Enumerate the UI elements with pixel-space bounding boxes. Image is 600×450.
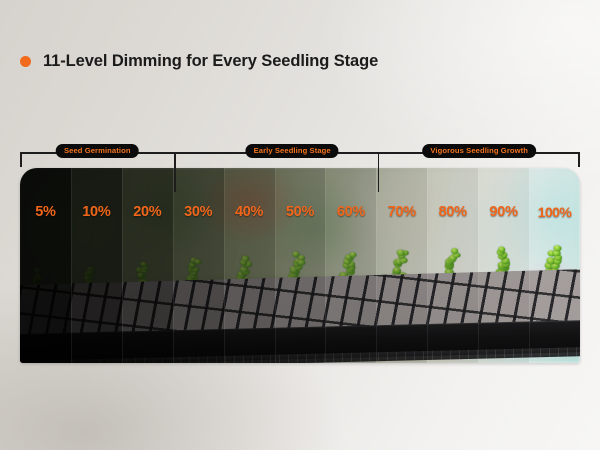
dimming-band: 90% [478, 168, 529, 363]
dimming-band: 40% [224, 168, 275, 363]
stage-badge: Seed Germination [56, 144, 139, 158]
bracket-rule [20, 152, 60, 154]
dimming-band: 20% [122, 168, 173, 363]
dimming-level-label: 10% [82, 205, 110, 363]
bracket-tick [20, 152, 22, 167]
dimming-band: 60% [325, 168, 376, 363]
page-title-text: 11-Level Dimming for Every Seedling Stag… [43, 52, 378, 71]
dimming-band: 100% [529, 168, 580, 363]
stage-badge: Vigorous Seedling Growth [422, 144, 536, 158]
bracket-rule [535, 152, 580, 154]
dimming-level-label: 40% [235, 205, 263, 363]
bracket-tick [174, 152, 176, 192]
dimming-band: 30% [173, 168, 224, 363]
dimming-level-label: 60% [337, 205, 365, 363]
dimming-level-label: 50% [286, 205, 314, 363]
bracket-rule [134, 152, 174, 154]
bracket-rule [174, 152, 246, 154]
dimming-level-label: 90% [490, 205, 518, 363]
dimming-level-label: 5% [35, 205, 55, 363]
dimming-band: 80% [427, 168, 478, 363]
stage-bracket: Seed GerminationEarly Seedling StageVigo… [20, 152, 580, 154]
dimming-band: 70% [376, 168, 427, 363]
dimming-band: 5% [20, 168, 71, 363]
dimming-level-label: 20% [133, 205, 161, 363]
dimming-level-label: 100% [538, 205, 571, 363]
stage-badge: Early Seedling Stage [246, 144, 339, 158]
dimming-level-label: 70% [388, 205, 416, 363]
page-root: 11-Level Dimming for Every Seedling Stag… [0, 0, 600, 450]
dimming-band: 10% [71, 168, 122, 363]
dimming-level-label: 80% [439, 205, 467, 363]
dimming-band: 50% [275, 168, 326, 363]
bracket-tick [578, 152, 580, 167]
page-title: 11-Level Dimming for Every Seedling Stag… [20, 52, 378, 71]
dimming-band-list: 5%10%20%30%40%50%60%70%80%90%100% [20, 168, 580, 363]
dimming-level-label: 30% [184, 205, 212, 363]
bracket-rule [378, 152, 423, 154]
bracket-rule [338, 152, 378, 154]
seedling-tray-photo: 5%10%20%30%40%50%60%70%80%90%100% [20, 168, 580, 363]
bracket-tick [378, 152, 380, 192]
bullet-icon [20, 56, 31, 67]
